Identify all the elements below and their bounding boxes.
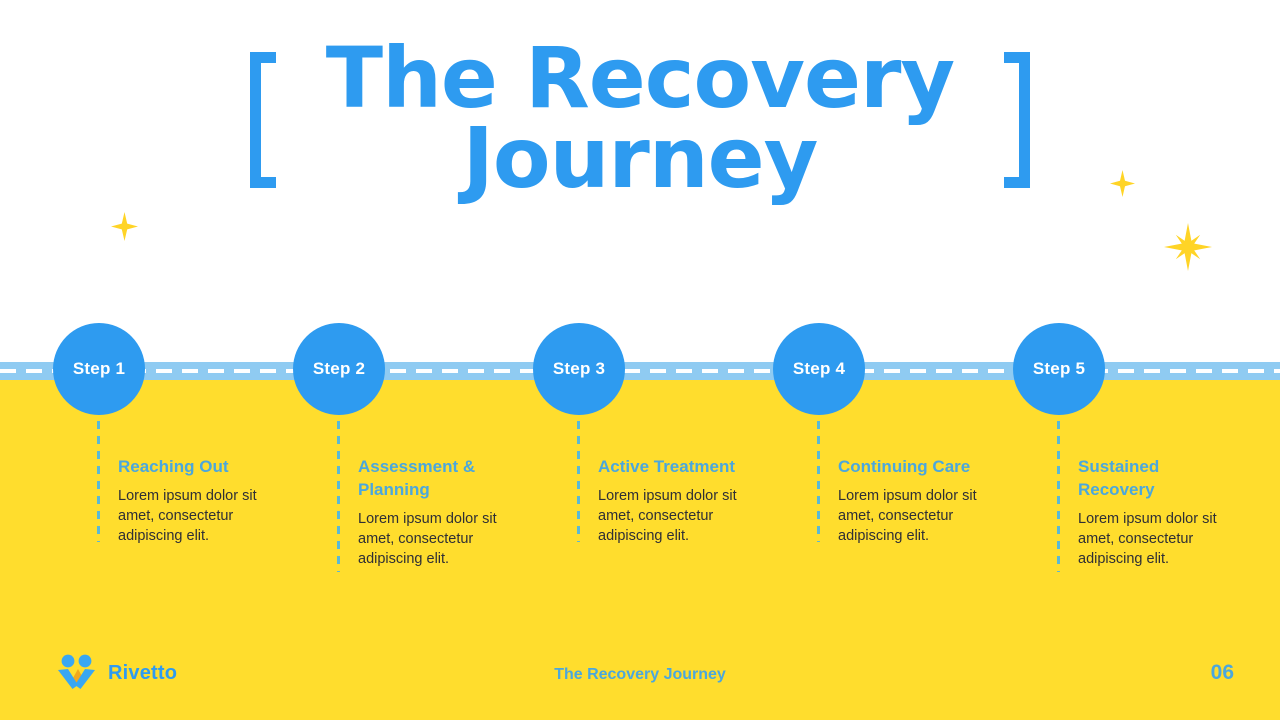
- step-body-5: Lorem ipsum dolor sit amet, consectetur …: [1078, 509, 1238, 569]
- step-heading-1: Reaching Out: [118, 455, 283, 478]
- step-content-5: Sustained Recovery Lorem ipsum dolor sit…: [1078, 455, 1238, 569]
- step-content-2: Assessment & Planning Lorem ipsum dolor …: [358, 455, 523, 569]
- step-connector-4: [817, 421, 820, 542]
- footer-page-number: 06: [1211, 661, 1234, 685]
- slide-canvas: The Recovery Journey Step 1 Step 2 Step …: [0, 0, 1280, 720]
- step-body-2: Lorem ipsum dolor sit amet, consectetur …: [358, 509, 523, 569]
- page-title: The Recovery Journey: [0, 38, 1280, 198]
- step-badge-label-1: Step 1: [73, 359, 125, 379]
- page-title-line-1: The Recovery: [0, 38, 1280, 118]
- step-badge-2[interactable]: Step 2: [293, 323, 385, 415]
- step-badge-5[interactable]: Step 5: [1013, 323, 1105, 415]
- step-content-4: Continuing Care Lorem ipsum dolor sit am…: [838, 455, 1008, 546]
- footer-section-label: The Recovery Journey: [0, 666, 1280, 684]
- sparkle-4-point-left-icon: [111, 212, 138, 241]
- sparkle-8-point-right-icon: [1164, 223, 1212, 271]
- step-connector-2: [337, 421, 340, 572]
- step-content-1: Reaching Out Lorem ipsum dolor sit amet,…: [118, 455, 283, 546]
- step-content-3: Active Treatment Lorem ipsum dolor sit a…: [598, 455, 768, 546]
- step-body-1: Lorem ipsum dolor sit amet, consectetur …: [118, 486, 283, 546]
- step-heading-4: Continuing Care: [838, 455, 1008, 478]
- step-badge-label-2: Step 2: [313, 359, 365, 379]
- step-heading-5: Sustained Recovery: [1078, 455, 1238, 501]
- step-badge-label-4: Step 4: [793, 359, 845, 379]
- step-badge-label-5: Step 5: [1033, 359, 1085, 379]
- step-body-3: Lorem ipsum dolor sit amet, consectetur …: [598, 486, 768, 546]
- step-badge-1[interactable]: Step 1: [53, 323, 145, 415]
- page-title-line-2: Journey: [0, 118, 1280, 198]
- step-badge-3[interactable]: Step 3: [533, 323, 625, 415]
- step-badge-4[interactable]: Step 4: [773, 323, 865, 415]
- step-heading-2: Assessment & Planning: [358, 455, 523, 501]
- step-connector-1: [97, 421, 100, 542]
- step-connector-5: [1057, 421, 1060, 572]
- step-connector-3: [577, 421, 580, 542]
- step-body-4: Lorem ipsum dolor sit amet, consectetur …: [838, 486, 1008, 546]
- step-badge-label-3: Step 3: [553, 359, 605, 379]
- step-heading-3: Active Treatment: [598, 455, 768, 478]
